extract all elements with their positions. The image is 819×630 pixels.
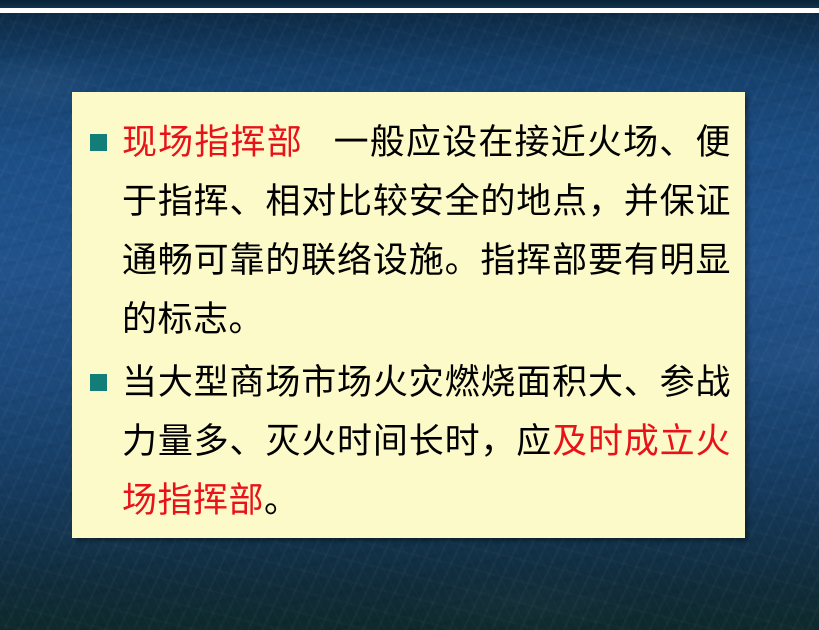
bullet-item-2: 当大型商场市场火灾燃烧面积大、参战力量多、灭火时间长时，应及时成立火场指挥部。 [80, 354, 731, 531]
content-panel: 现场指挥部一般应设在接近火场、便于指挥、相对比较安全的地点，并保证通畅可靠的联络… [72, 92, 745, 538]
bullet-list: 现场指挥部一般应设在接近火场、便于指挥、相对比较安全的地点，并保证通畅可靠的联络… [80, 114, 731, 531]
square-bullet-icon [90, 134, 107, 151]
slide-canvas: 现场指挥部一般应设在接近火场、便于指挥、相对比较安全的地点，并保证通畅可靠的联络… [0, 13, 819, 630]
bullet-2-segment-3: 。 [264, 481, 300, 521]
bullet-item-1-text: 现场指挥部一般应设在接近火场、便于指挥、相对比较安全的地点，并保证通畅可靠的联络… [122, 114, 731, 350]
bullet-item-2-text: 当大型商场市场火灾燃烧面积大、参战力量多、灭火时间长时，应及时成立火场指挥部。 [122, 354, 731, 531]
top-chrome-strip [0, 0, 819, 8]
slide-viewer: 现场指挥部一般应设在接近火场、便于指挥、相对比较安全的地点，并保证通畅可靠的联络… [0, 0, 819, 630]
bullet-item-1: 现场指挥部一般应设在接近火场、便于指挥、相对比较安全的地点，并保证通畅可靠的联络… [80, 114, 731, 350]
bullet-1-segment-1: 现场指挥部 [122, 123, 303, 163]
square-bullet-icon [90, 374, 107, 391]
